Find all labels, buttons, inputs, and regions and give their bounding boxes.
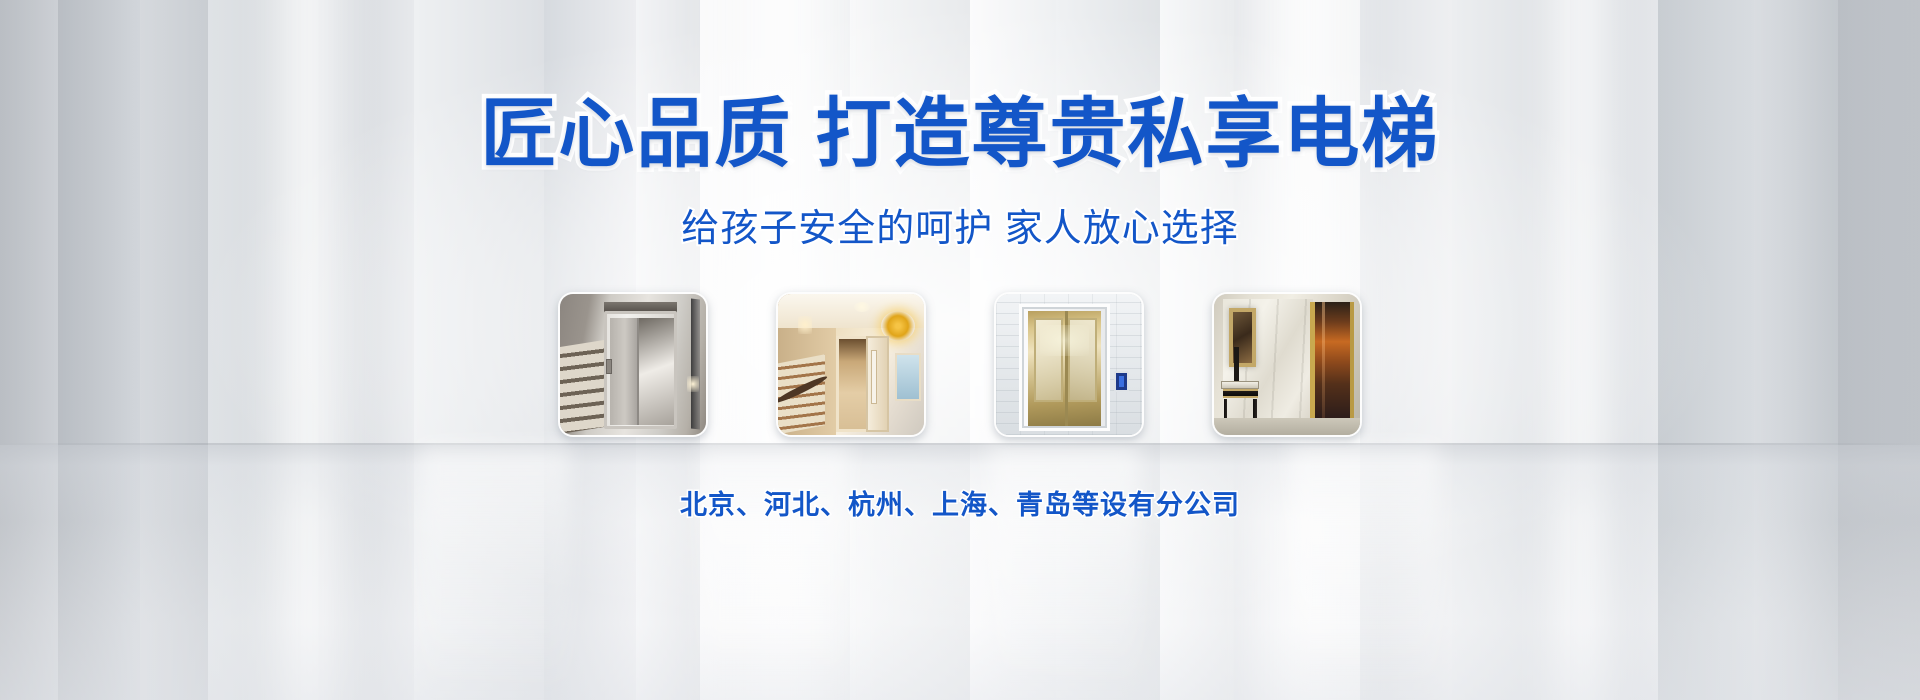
window-shape: [895, 353, 921, 401]
candlestick-shape: [1234, 347, 1239, 384]
banner-content: 匠心品质 打造尊贵私享电梯 给孩子安全的呵护 家人放心选择: [0, 0, 1920, 700]
framed-picture-shape: [1229, 308, 1257, 367]
table-top-shape: [1221, 381, 1259, 389]
wall-lamp-shape: [687, 376, 699, 392]
thumbnail-image: [560, 294, 706, 435]
elevator-doorway-shape: [836, 336, 868, 432]
thumbnail-glass-gold-doors[interactable]: [994, 292, 1144, 437]
elevator-cab-shape: [1310, 302, 1354, 426]
thumbnail-image: [1214, 294, 1360, 435]
lobby-floor-shape: [1214, 418, 1360, 435]
elevator-door-shape: [610, 318, 639, 425]
banner-subheadline: 给孩子安全的呵护 家人放心选择: [681, 197, 1239, 252]
thumbnail-marble-lobby-elevator[interactable]: [1212, 292, 1362, 437]
thumbnail-image: [996, 294, 1142, 435]
thumbnail-beige-hall-chandelier[interactable]: [776, 292, 926, 437]
interior-light-shape: [1040, 325, 1090, 356]
wall-sconce-shape: [798, 316, 812, 334]
table-apron-shape: [1223, 389, 1258, 399]
hero-banner: 匠心品质 打造尊贵私享电梯 给孩子安全的呵护 家人放心选择: [0, 0, 1920, 700]
open-door-shape: [866, 336, 889, 432]
call-panel-shape: [606, 359, 612, 375]
thumbnail-row: [558, 292, 1362, 437]
elevator-cab-shape: [639, 318, 674, 425]
thumbnail-image: [778, 294, 924, 435]
branch-locations-text: 北京、河北、杭州、上海、青岛等设有分公司: [680, 483, 1240, 522]
handrail-shape: [691, 299, 700, 430]
banner-headline: 匠心品质 打造尊贵私享电梯: [480, 95, 1439, 175]
door-glass-shape: [871, 350, 877, 404]
call-button-shape: [1114, 371, 1129, 392]
thumbnail-villa-elevator-staircase[interactable]: [558, 292, 708, 437]
